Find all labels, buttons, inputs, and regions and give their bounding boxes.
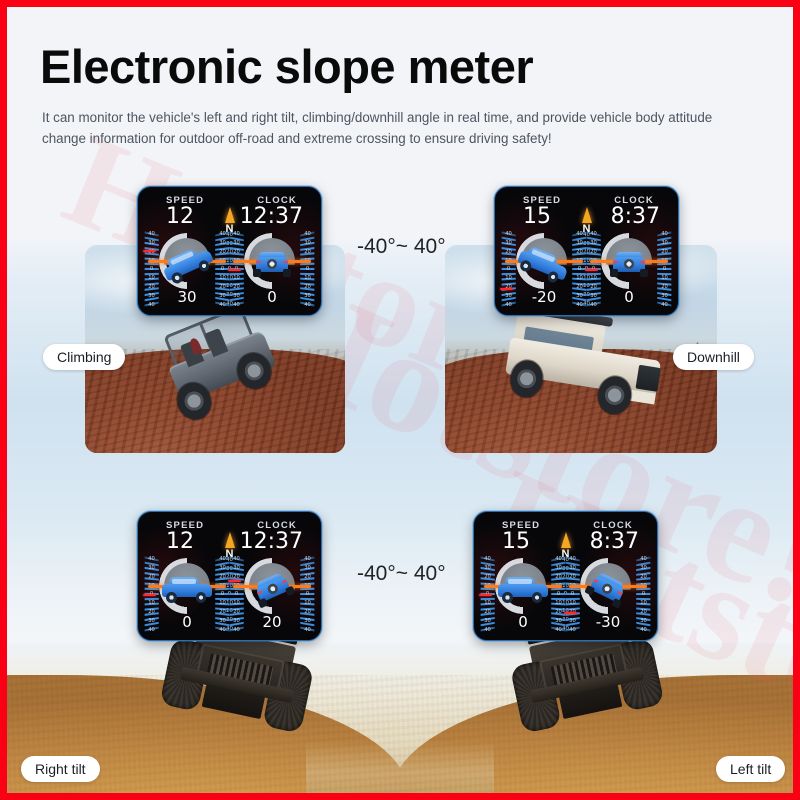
car-wheel [166, 592, 177, 603]
page-canvas: Hotstore! Hotstore! Hotstore! Electronic… [7, 7, 793, 793]
page-title: Electronic slope meter [40, 43, 533, 90]
compass-needle-icon [582, 207, 592, 223]
page-subtitle: It can monitor the vehicle's left and ri… [42, 108, 742, 150]
pitch-needle [143, 250, 156, 252]
speed-value: 15 [502, 531, 530, 553]
roll-needle [564, 612, 577, 614]
vehicle-grille [635, 365, 661, 392]
caption-climbing: Climbing [43, 344, 125, 370]
compass-needle-icon [225, 532, 235, 548]
roll-readout: 0 [229, 290, 315, 305]
compass-needle-icon [561, 532, 571, 548]
pitch-readout: 0 [144, 615, 230, 630]
gauge-panel-left-tilt[interactable]: SPEED 15 CLOCK 8:37 N 4030 2010 010 2030… [473, 511, 658, 641]
caption-downhill: Downhill [673, 344, 754, 370]
roll-needle [228, 269, 241, 271]
car-wheel [196, 592, 207, 603]
roll-dial: 4030 2010 010 2030 40 4030 2010 010 2030… [229, 231, 315, 309]
roll-readout: 0 [586, 290, 672, 305]
car-rear-icon [602, 245, 656, 279]
pitch-dial: 4030 2010 010 2030 40 4030 2010 010 2030… [501, 231, 587, 309]
speed-value: 12 [166, 531, 194, 553]
car-wheel [285, 585, 296, 596]
caption-left-tilt: Left tilt [716, 756, 785, 782]
roll-dial: 4030 2010 010 2030 40 4030 2010 010 2030… [565, 556, 651, 634]
car-wheel [502, 592, 513, 603]
roll-readout: -30 [565, 615, 651, 630]
speed-value: 12 [166, 206, 194, 228]
pitch-readout: 30 [144, 290, 230, 305]
roll-needle [585, 269, 598, 271]
pitch-dial: 4030 2010 010 2030 40 4030 2010 010 2030… [144, 231, 230, 309]
car-wheel [283, 269, 292, 277]
compass-needle-icon [225, 207, 235, 223]
car-wheel [611, 598, 622, 609]
clock-value: 8:37 [590, 531, 639, 553]
speed-value: 15 [523, 206, 551, 228]
clock-value: 12:37 [240, 531, 303, 553]
caption-right-tilt: Right tilt [21, 756, 100, 782]
roll-readout: 20 [229, 615, 315, 630]
car-rear-icon [245, 245, 299, 279]
spare-tire [267, 259, 278, 269]
pitch-dial: 4030 2010 010 2030 40 4030 2010 010 2030… [480, 556, 566, 634]
car-wheel [640, 269, 649, 277]
tail-light [640, 261, 645, 264]
tail-light [283, 261, 288, 264]
pitch-readout: 0 [480, 615, 566, 630]
pitch-readout: -20 [501, 290, 587, 305]
gauge-panel-right-tilt[interactable]: SPEED 12 CLOCK 12:37 N 4030 2010 010 203… [137, 511, 322, 641]
spare-tire [624, 259, 635, 269]
roll-dial: 4030 2010 010 2030 40 4030 2010 010 2030… [229, 556, 315, 634]
gauge-panel-climbing[interactable]: SPEED 12 CLOCK 12:37 N 4030 2010 010 203… [137, 186, 322, 316]
car-wheel [253, 269, 262, 277]
background-dune [7, 643, 793, 793]
pitch-needle [143, 594, 156, 596]
angle-range-top: -40°~ 40° [357, 235, 446, 259]
pitch-dial: 4030 2010 010 2030 40 4030 2010 010 2030… [144, 556, 230, 634]
car-wheel [610, 269, 619, 277]
clock-value: 12:37 [240, 206, 303, 228]
angle-range-bottom: -40°~ 40° [357, 562, 446, 586]
car-side-icon [160, 570, 214, 604]
pitch-needle [479, 594, 492, 596]
roll-dial: 4030 2010 010 2030 40 4030 2010 010 2030… [586, 231, 672, 309]
car-side-icon [496, 570, 550, 604]
clock-value: 8:37 [611, 206, 660, 228]
gauge-panel-downhill[interactable]: SPEED 15 CLOCK 8:37 N 4030 2010 010 2030… [494, 186, 679, 316]
car-wheel [532, 592, 543, 603]
dune-texture [7, 675, 793, 793]
